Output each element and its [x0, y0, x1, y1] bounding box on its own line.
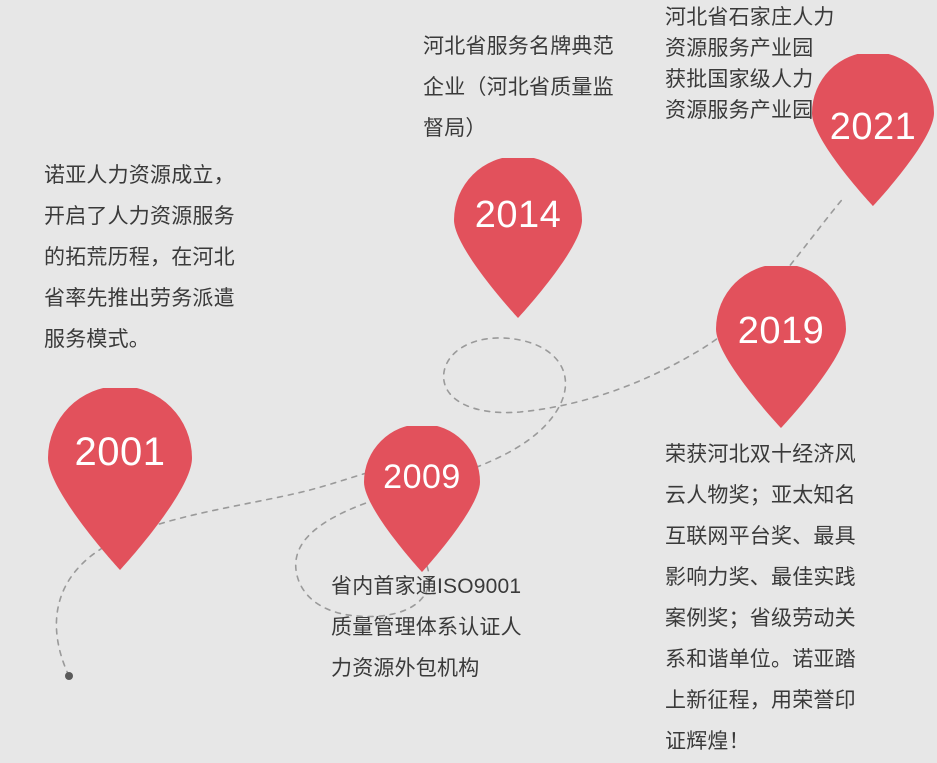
milestone-note-2019: 荣获河北双十经济风 云人物奖；亚太知名 互联网平台奖、最具 影响力奖、最佳实践 …	[665, 434, 905, 762]
milestone-note-2021: 河北省石家庄人力 资源服务产业园 获批国家级人力 资源服务产业园	[665, 2, 875, 126]
map-pin-icon	[364, 426, 480, 572]
milestone-pin-2009[interactable]: 2009	[364, 426, 480, 572]
milestone-note-2001: 诺亚人力资源成立， 开启了人力资源服务 的拓荒历程，在河北 省率先推出劳务派遣 …	[44, 155, 274, 360]
milestone-pin-2019[interactable]: 2019	[716, 266, 846, 428]
milestone-note-2014: 河北省服务名牌典范 企业（河北省质量监 督局）	[423, 26, 643, 149]
milestone-year-2019: 2019	[716, 312, 846, 350]
milestone-pin-2014[interactable]: 2014	[454, 158, 582, 318]
milestone-year-2009: 2009	[364, 460, 480, 494]
path-start-dot	[65, 672, 73, 680]
milestone-year-2001: 2001	[48, 432, 192, 472]
milestone-year-2014: 2014	[454, 196, 582, 234]
timeline-diagram: 诺亚人力资源成立， 开启了人力资源服务 的拓荒历程，在河北 省率先推出劳务派遣 …	[0, 0, 937, 763]
map-pin-icon	[454, 158, 582, 318]
milestone-pin-2001[interactable]: 2001	[48, 388, 192, 570]
map-pin-icon	[48, 388, 192, 570]
milestone-note-2009: 省内首家通ISO9001 质量管理体系认证人 力资源外包机构	[331, 566, 571, 689]
